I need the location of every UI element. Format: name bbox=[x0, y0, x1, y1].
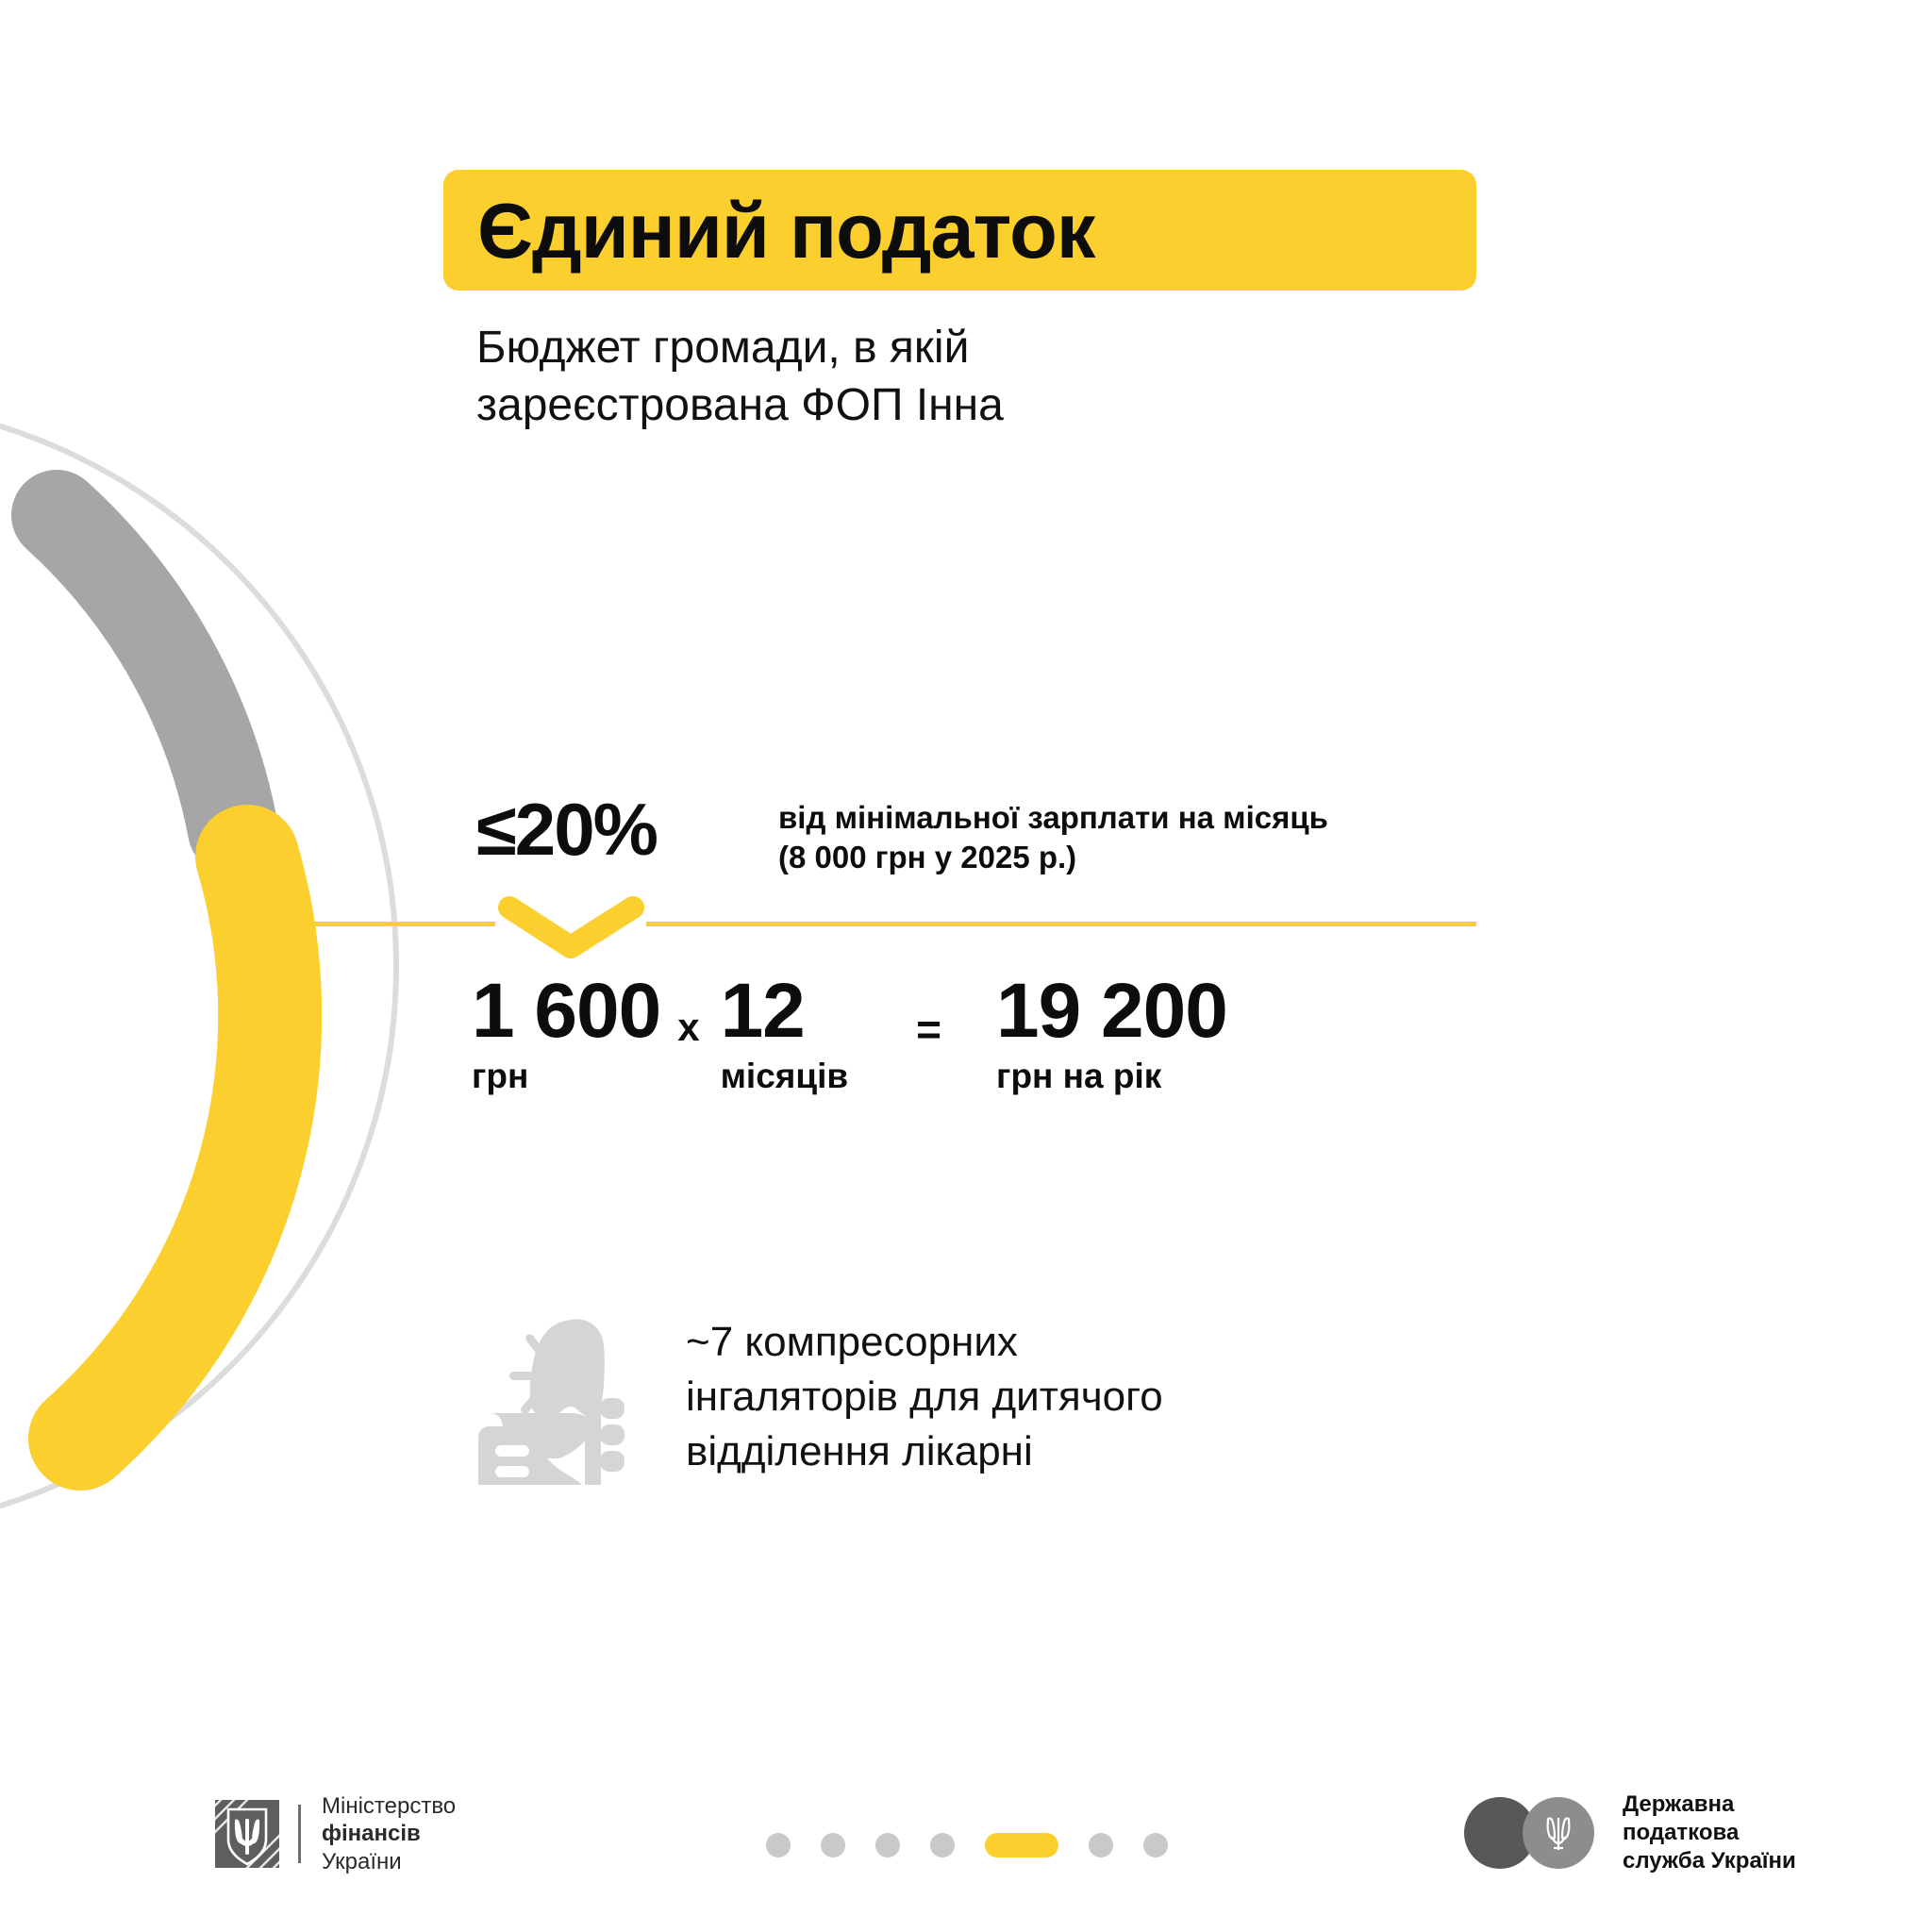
arc-segment-yellow bbox=[80, 857, 270, 1439]
pagination[interactable] bbox=[766, 1833, 1168, 1857]
equivalence-line-3: відділення лікарні bbox=[686, 1424, 1163, 1479]
equivalence-line-2: інгаляторів для дитячого bbox=[686, 1370, 1163, 1424]
calc-amount-unit: грн bbox=[472, 1058, 660, 1093]
trident-glyph-icon bbox=[1541, 1812, 1575, 1854]
pagination-dot-7[interactable] bbox=[1143, 1833, 1168, 1857]
tax-service-logo: Державна податкова служба України bbox=[1464, 1790, 1796, 1875]
pagination-dot-3[interactable] bbox=[875, 1833, 900, 1857]
page-title: Єдиний податок bbox=[477, 192, 1094, 270]
calc-operator-equals: = bbox=[916, 972, 941, 1051]
ministry-line-2: фінансів bbox=[322, 1820, 456, 1847]
ministry-line-3: України bbox=[322, 1848, 456, 1875]
subtitle-line-1: Бюджет громади, в якій bbox=[476, 319, 1325, 376]
tax-service-name: Державна податкова служба України bbox=[1623, 1790, 1796, 1875]
equivalence-row: ~7 компресорних інгаляторів для дитячого… bbox=[476, 1311, 1420, 1485]
trident-circle-icon bbox=[1523, 1797, 1594, 1869]
tax-service-emblem bbox=[1464, 1797, 1607, 1869]
pagination-dot-1[interactable] bbox=[766, 1833, 791, 1857]
arc-segment-gray bbox=[57, 515, 233, 830]
trident-shield-icon bbox=[215, 1800, 279, 1868]
subtitle-line-2: зареєстрована ФОП Інна bbox=[476, 376, 1325, 434]
subtitle: Бюджет громади, в якій зареєстрована ФОП… bbox=[476, 319, 1325, 435]
equivalence-line-1: ~7 компресорних bbox=[686, 1315, 1163, 1370]
calc-amount: 1 600 грн bbox=[472, 972, 660, 1093]
divider-line bbox=[292, 922, 1476, 926]
rate-description-line-2: (8 000 грн у 2025 р.) bbox=[778, 838, 1328, 877]
tax-service-line-3: служба України bbox=[1623, 1847, 1796, 1875]
calc-total-unit: грн на рік bbox=[996, 1058, 1227, 1093]
ministry-line-1: Міністерство bbox=[322, 1792, 456, 1820]
tax-service-line-1: Державна bbox=[1623, 1790, 1796, 1819]
pagination-dot-4[interactable] bbox=[930, 1833, 955, 1857]
rate-description-line-1: від мінімальної зарплати на місяць bbox=[778, 798, 1328, 838]
title-banner: Єдиний податок bbox=[443, 170, 1476, 291]
ministry-logo: Міністерство фінансів України bbox=[215, 1792, 456, 1875]
ministry-name: Міністерство фінансів України bbox=[322, 1792, 456, 1875]
calc-months-unit: місяців bbox=[721, 1058, 849, 1093]
pagination-dot-5-active[interactable] bbox=[985, 1833, 1058, 1857]
rate-value: ≤20% bbox=[476, 792, 778, 866]
calc-operator-multiply: x bbox=[677, 972, 699, 1047]
calc-amount-value: 1 600 bbox=[472, 972, 660, 1051]
calc-total: 19 200 грн на рік bbox=[996, 972, 1227, 1093]
chevron-down-icon bbox=[498, 896, 644, 960]
arc-outline-circle bbox=[0, 400, 396, 1532]
logo-separator bbox=[298, 1805, 301, 1863]
calc-total-value: 19 200 bbox=[996, 972, 1227, 1051]
calc-months-value: 12 bbox=[721, 972, 849, 1051]
pagination-dot-2[interactable] bbox=[821, 1833, 845, 1857]
rate-row: ≤20% від мінімальної зарплати на місяць … bbox=[476, 792, 1486, 877]
calc-months: 12 місяців bbox=[721, 972, 849, 1093]
infographic-slide: Єдиний податок Бюджет громади, в якій за… bbox=[0, 0, 1932, 1932]
pagination-dot-6[interactable] bbox=[1089, 1833, 1113, 1857]
equivalence-text: ~7 компресорних інгаляторів для дитячого… bbox=[686, 1311, 1163, 1479]
tax-service-line-2: податкова bbox=[1623, 1819, 1796, 1847]
calculation-row: 1 600 грн x 12 місяців = 19 200 грн на р… bbox=[472, 972, 1358, 1093]
rate-description: від мінімальної зарплати на місяць (8 00… bbox=[778, 792, 1328, 877]
inhaler-icon bbox=[476, 1315, 637, 1485]
